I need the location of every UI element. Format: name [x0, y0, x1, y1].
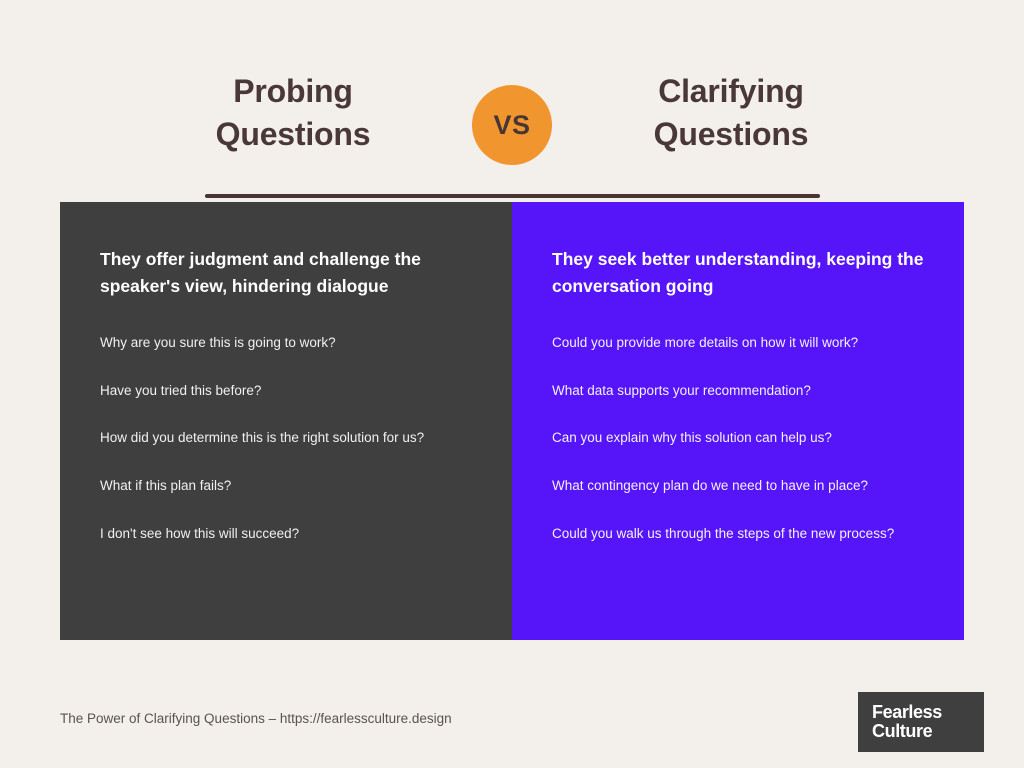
- probing-questions-panel: They offer judgment and challenge the sp…: [60, 202, 512, 640]
- probing-panel-heading: They offer judgment and challenge the sp…: [100, 246, 472, 300]
- list-item: Can you explain why this solution can he…: [552, 427, 922, 449]
- vs-badge: VS: [472, 85, 552, 165]
- probing-questions-list: Why are you sure this is going to work? …: [100, 332, 472, 544]
- logo-line-1: Fearless: [872, 703, 942, 722]
- list-item: Why are you sure this is going to work?: [100, 332, 470, 354]
- clarifying-questions-list: Could you provide more details on how it…: [552, 332, 924, 544]
- header: Probing Questions VS Clarifying Question…: [0, 70, 1024, 190]
- comparison-panels: They offer judgment and challenge the sp…: [60, 202, 964, 640]
- right-column-title: Clarifying Questions: [566, 70, 896, 156]
- left-title-line-1: Probing: [128, 70, 458, 113]
- list-item: What if this plan fails?: [100, 475, 470, 497]
- right-title-line-1: Clarifying: [566, 70, 896, 113]
- fearless-culture-logo: Fearless Culture: [858, 692, 984, 752]
- clarifying-questions-panel: They seek better understanding, keeping …: [512, 202, 964, 640]
- list-item: How did you determine this is the right …: [100, 427, 470, 449]
- list-item: Could you walk us through the steps of t…: [552, 523, 922, 545]
- list-item: Have you tried this before?: [100, 380, 470, 402]
- list-item: Could you provide more details on how it…: [552, 332, 922, 354]
- right-title-line-2: Questions: [566, 113, 896, 156]
- clarifying-panel-heading: They seek better understanding, keeping …: [552, 246, 924, 300]
- vs-badge-label: VS: [493, 110, 530, 141]
- logo-line-2: Culture: [872, 722, 932, 741]
- header-divider-rule: [205, 194, 820, 198]
- left-column-title: Probing Questions: [128, 70, 458, 156]
- left-title-line-2: Questions: [128, 113, 458, 156]
- list-item: What contingency plan do we need to have…: [552, 475, 922, 497]
- list-item: What data supports your recommendation?: [552, 380, 922, 402]
- footer-caption: The Power of Clarifying Questions – http…: [60, 710, 452, 729]
- list-item: I don't see how this will succeed?: [100, 523, 470, 545]
